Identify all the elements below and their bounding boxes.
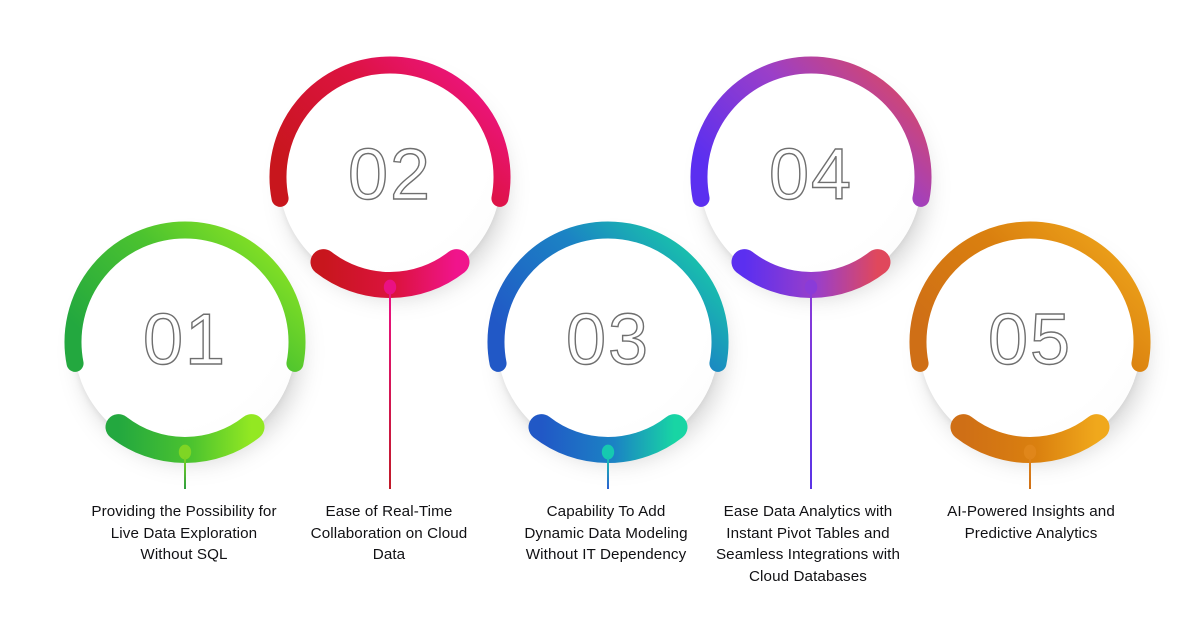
step-label-line: Instant Pivot Tables and [700,523,916,545]
step-disc-01 [74,231,296,453]
step-label-line: Seamless Integrations with [700,544,916,566]
step-disc-03 [497,231,719,453]
step-connector-line-02 [389,291,391,489]
step-label-line: Ease Data Analytics with [700,501,916,523]
step-label-line: Data [286,544,492,566]
step-connector-line-04 [810,291,812,489]
step-label-line: Cloud Databases [700,566,916,588]
step-label-line: Collaboration on Cloud [286,523,492,545]
step-ring-05: 05 [880,192,1180,492]
step-disc-02 [279,66,501,288]
step-label-line: Providing the Possibility for [65,501,303,523]
step-label-03: Capability To AddDynamic Data ModelingWi… [500,501,712,566]
infographic-canvas: 01Providing the Possibility forLive Data… [0,0,1200,628]
step-connector-line-03 [607,456,609,489]
step-disc-04 [700,66,922,288]
step-label-02: Ease of Real-TimeCollaboration on CloudD… [286,501,492,566]
step-label-line: Capability To Add [500,501,712,523]
step-label-05: AI-Powered Insights andPredictive Analyt… [928,501,1134,544]
step-label-01: Providing the Possibility forLive Data E… [65,501,303,566]
step-label-line: AI-Powered Insights and [928,501,1134,523]
step-connector-line-05 [1029,456,1031,489]
step-label-line: Ease of Real-Time [286,501,492,523]
step-label-line: Without IT Dependency [500,544,712,566]
step-label-line: Dynamic Data Modeling [500,523,712,545]
step-connector-line-01 [184,456,186,489]
step-label-04: Ease Data Analytics withInstant Pivot Ta… [700,501,916,587]
step-label-line: Without SQL [65,544,303,566]
step-disc-05 [919,231,1141,453]
step-label-line: Live Data Exploration [65,523,303,545]
step-label-line: Predictive Analytics [928,523,1134,545]
